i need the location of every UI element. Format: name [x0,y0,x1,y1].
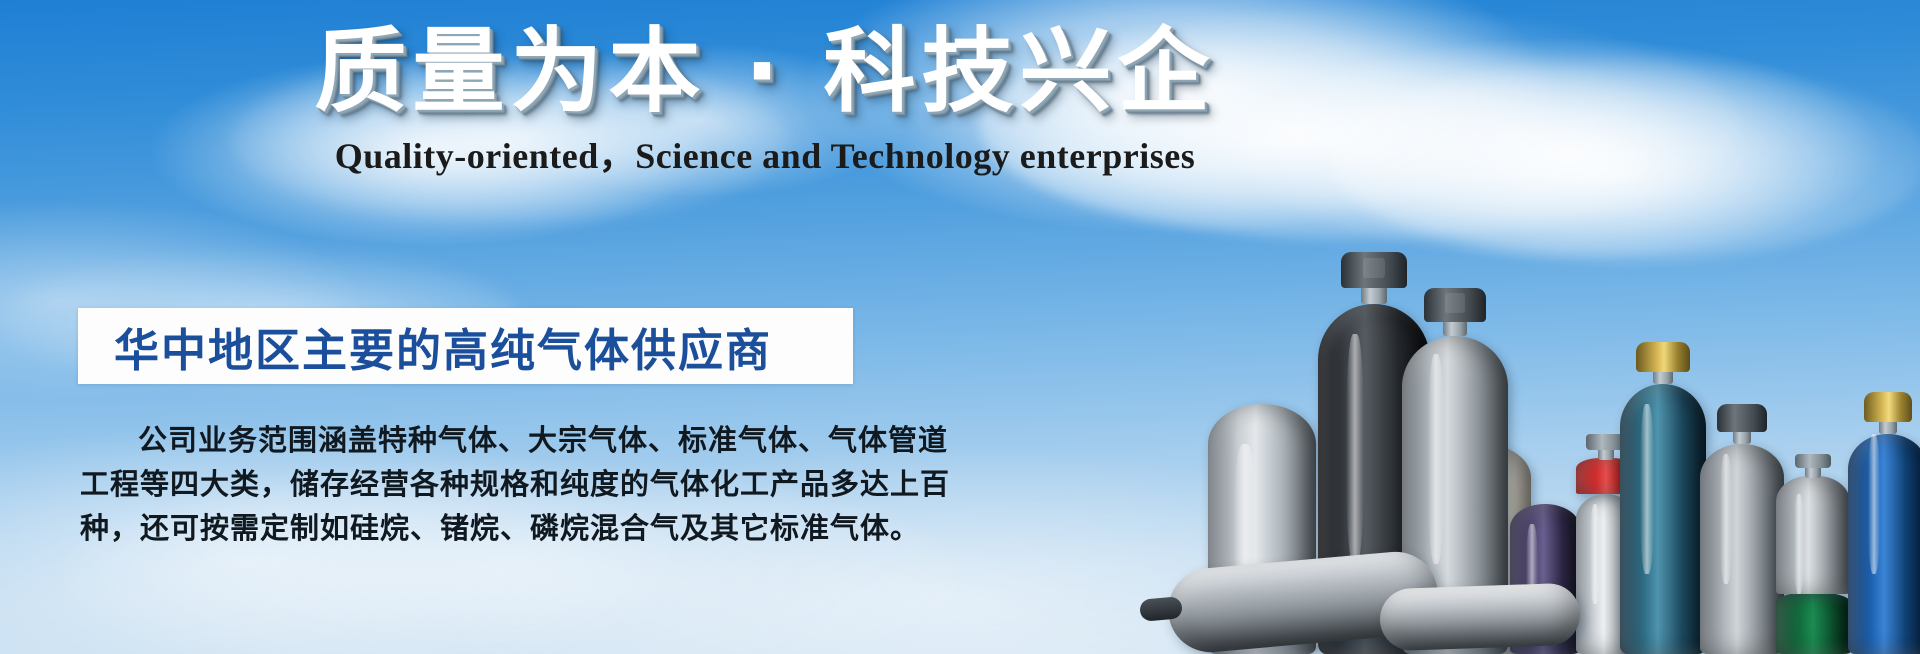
tagline-box: 华中地区主要的高纯气体供应商 [78,308,853,384]
blue-cylinder [1848,384,1920,654]
banner-description: 公司业务范围涵盖特种气体、大宗气体、标准气体、气体管道 工程等四大类，储存经营各… [80,418,870,550]
teal-cylinder [1620,334,1706,654]
description-line: 公司业务范围涵盖特种气体、大宗气体、标准气体、气体管道 [80,418,870,462]
grey-mid-cylinder [1700,404,1784,654]
horizontal-tank-small [1379,583,1581,652]
tagline-text: 华中地区主要的高纯气体供应商 [114,314,772,379]
description-line: 工程等四大类，储存经营各种规格和纯度的气体化工产品多达上百 [80,462,870,506]
green-cylinder [1776,454,1850,654]
banner-headline: 质量为本 · 科技兴企 [0,22,1530,121]
hero-banner: 质量为本 · 科技兴企 Quality-oriented，Science and… [0,0,1920,654]
gas-cylinder-group [1180,124,1920,654]
description-line: 种，还可按需定制如硅烷、锗烷、磷烷混合气及其它标准气体。 [80,506,870,550]
